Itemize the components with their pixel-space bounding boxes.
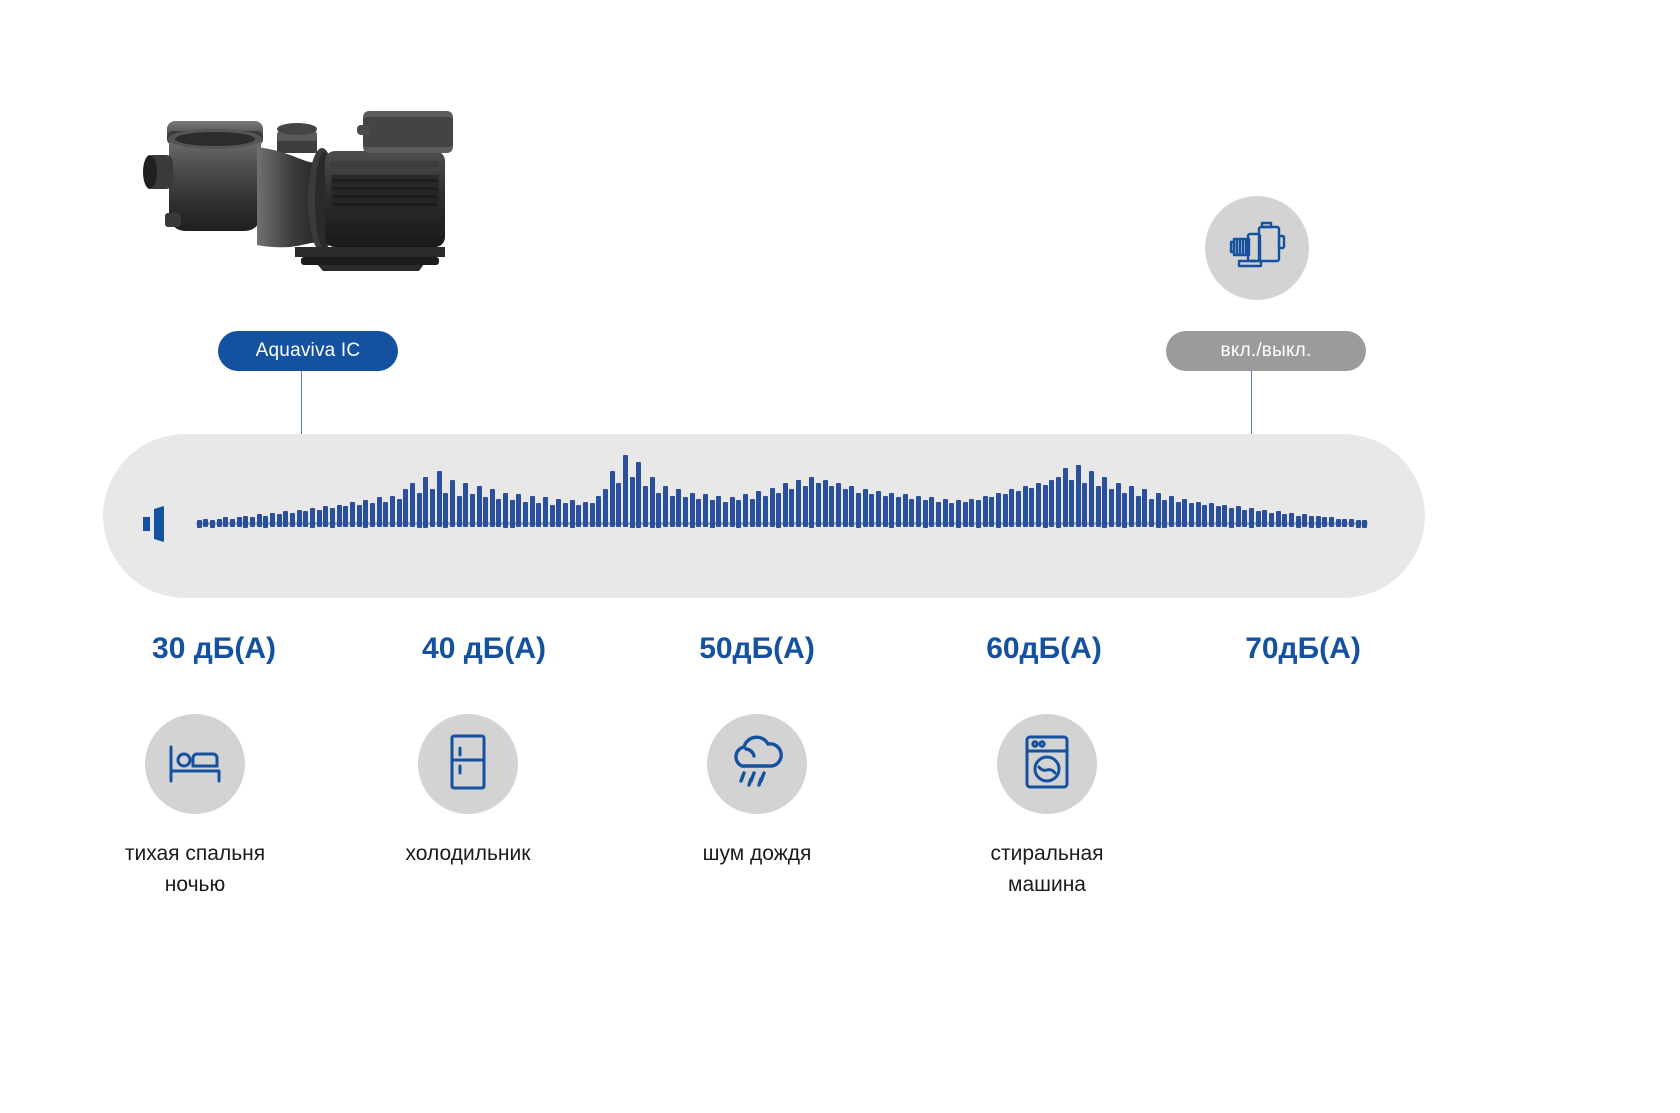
waveform-bar: [437, 471, 442, 528]
waveform-bar: [816, 483, 821, 527]
waveform-bar: [1329, 517, 1334, 527]
waveform-bar: [1009, 489, 1014, 527]
noise-source-list: тихая спальня ночьюхолодильникшум дождяс…: [0, 714, 1680, 914]
waveform-bar: [410, 483, 415, 527]
waveform-bar: [736, 500, 741, 527]
waveform-bar: [1162, 500, 1167, 527]
waveform-bar: [690, 493, 695, 528]
waveform-bar: [1242, 510, 1247, 528]
waveform-bar: [696, 499, 701, 528]
waveform-bar: [730, 497, 735, 527]
waveform-bar: [1269, 513, 1274, 528]
waveform-bar: [1096, 486, 1101, 527]
waveform-bar: [1076, 465, 1081, 528]
waveform-bar: [1282, 514, 1287, 527]
waveform-bar: [1342, 519, 1347, 528]
waveform-bar: [1229, 508, 1234, 528]
waveform-bar: [783, 483, 788, 527]
waveform-bar: [590, 503, 595, 527]
waveform-bar: [903, 494, 908, 527]
waveform-bar: [1202, 505, 1207, 528]
washing-machine-icon: [1023, 734, 1071, 795]
waveform-bar: [1216, 506, 1221, 527]
waveform-bar: [1056, 477, 1061, 528]
washing-machine-icon-circle: [997, 714, 1097, 814]
waveform-bar: [1276, 511, 1281, 527]
waveform-bar: [1362, 520, 1367, 528]
noise-source-item: шум дождя: [637, 714, 877, 869]
waveform-bar: [510, 500, 515, 527]
waveform-bar: [763, 496, 768, 528]
waveform-bar: [223, 517, 228, 527]
waveform-bar: [417, 493, 422, 528]
waveform-bar: [976, 500, 981, 527]
noise-source-caption: стиральная машина: [927, 838, 1167, 900]
waveform-bar: [943, 499, 948, 528]
waveform-bar: [1196, 502, 1201, 528]
waveform-bar: [596, 496, 601, 528]
waveform-bar: [1256, 511, 1261, 527]
waveform-bar: [843, 489, 848, 527]
waveform-bar: [623, 455, 628, 527]
waveform-bar: [1116, 483, 1121, 527]
pump-product-photo: [125, 95, 525, 285]
db-scale-label: 70дБ(A): [1245, 632, 1361, 666]
waveform-bar: [743, 494, 748, 527]
waveform-bar: [1169, 496, 1174, 528]
waveform-bar: [337, 505, 342, 528]
waveform-bar: [883, 496, 888, 528]
waveform-bar: [836, 483, 841, 527]
infographic-canvas: Aquaviva IC вкл./выкл. 30 дБ(A)40 дБ(A)5…: [0, 0, 1680, 1113]
speaker-volume-icon: [140, 505, 180, 543]
waveform-bar: [423, 477, 428, 528]
waveform-bar: [1149, 499, 1154, 528]
waveform-bar: [277, 514, 282, 527]
waveform-bar: [516, 494, 521, 527]
waveform-bar: [450, 480, 455, 527]
waveform-bar: [210, 520, 215, 528]
waveform-bar: [463, 483, 468, 527]
waveform-bar: [670, 496, 675, 528]
waveform-bar: [330, 508, 335, 528]
waveform-bar: [863, 489, 868, 527]
waveform-bar: [576, 505, 581, 528]
waveform-plot: [196, 434, 1368, 598]
db-scale-label: 30 дБ(A): [152, 632, 276, 666]
waveform-bar: [243, 516, 248, 528]
noise-source-caption: тихая спальня ночью: [75, 838, 315, 900]
waveform-bar: [317, 510, 322, 528]
waveform-bar: [723, 502, 728, 528]
waveform-bar: [1176, 502, 1181, 528]
waveform-bar: [217, 519, 222, 528]
waveform-bar: [1049, 480, 1054, 527]
waveform-bar: [343, 506, 348, 527]
waveform-bar: [1336, 519, 1341, 528]
waveform-bar: [370, 503, 375, 527]
waveform-bar: [663, 486, 668, 527]
waveform-bar: [1003, 494, 1008, 527]
waveform-bar: [1236, 506, 1241, 527]
waveform-bar: [936, 502, 941, 528]
refrigerator-icon-circle: [418, 714, 518, 814]
waveform-bar: [523, 502, 528, 528]
waveform-bar: [750, 499, 755, 528]
waveform-bar: [1302, 514, 1307, 527]
waveform-bar: [1016, 491, 1021, 528]
db-scale-label: 50дБ(A): [699, 632, 815, 666]
noise-source-item: холодильник: [348, 714, 588, 869]
waveform-bar: [823, 480, 828, 527]
waveform-bar: [969, 499, 974, 528]
waveform-bar: [616, 483, 621, 527]
waveform-bar: [270, 513, 275, 528]
refrigerator-icon: [448, 733, 488, 796]
waveform-bar: [630, 477, 635, 528]
waveform-bar: [656, 493, 661, 528]
waveform-bar: [896, 497, 901, 527]
decibel-scale: 30 дБ(A)40 дБ(A)50дБ(A)60дБ(A)70дБ(A): [0, 632, 1680, 678]
waveform-bars: [196, 434, 1368, 598]
waveform-bar: [716, 496, 721, 528]
waveform-bar: [303, 511, 308, 527]
waveform-bar: [1189, 503, 1194, 527]
waveform-bar: [477, 486, 482, 527]
waveform-bar: [849, 486, 854, 527]
waveform-bar: [357, 505, 362, 528]
waveform-bar: [1089, 471, 1094, 528]
waveform-bar: [257, 514, 262, 527]
waveform-bar: [923, 500, 928, 527]
waveform-bar: [1129, 486, 1134, 527]
waveform-bar: [536, 503, 541, 527]
waveform-bar: [483, 497, 488, 527]
waveform-bar: [430, 489, 435, 527]
waveform-bar: [889, 493, 894, 528]
waveform-bar: [956, 500, 961, 527]
waveform-bar: [1262, 510, 1267, 528]
waveform-bar: [676, 489, 681, 527]
waveform-bar: [989, 497, 994, 527]
waveform-bar: [543, 497, 548, 527]
waveform-bar: [610, 471, 615, 528]
waveform-bar: [496, 499, 501, 528]
waveform-bar: [363, 500, 368, 527]
waveform-bar: [929, 497, 934, 527]
waveform-bar: [503, 493, 508, 528]
waveform-bar: [443, 493, 448, 528]
bed-icon: [167, 739, 223, 790]
waveform-bar: [1043, 485, 1048, 528]
waveform-bar: [237, 517, 242, 527]
waveform-bar: [1289, 513, 1294, 528]
waveform-bar: [1249, 508, 1254, 528]
callout-onoff[interactable]: вкл./выкл.: [1166, 331, 1366, 371]
waveform-bar: [203, 519, 208, 528]
waveform-bar: [770, 488, 775, 528]
electric-motor-icon: [1226, 221, 1288, 276]
waveform-bar: [650, 477, 655, 528]
waveform-bar: [949, 503, 954, 527]
callout-aquaviva[interactable]: Aquaviva IC: [218, 331, 398, 371]
waveform-bar: [683, 497, 688, 527]
waveform-bar: [856, 493, 861, 528]
waveform-bar: [1069, 480, 1074, 527]
waveform-bar: [1136, 496, 1141, 528]
waveform-bar: [703, 494, 708, 527]
waveform-bar: [1349, 519, 1354, 528]
waveform-bar: [803, 486, 808, 527]
electric-motor-icon-circle: [1205, 196, 1309, 300]
waveform-bar: [197, 520, 202, 528]
waveform-bar: [283, 511, 288, 527]
noise-source-item: стиральная машина: [927, 714, 1167, 900]
waveform-bar: [996, 493, 1001, 528]
waveform-bar: [250, 517, 255, 527]
waveform-bar: [550, 505, 555, 528]
waveform-bar: [230, 519, 235, 528]
waveform-bar: [1109, 489, 1114, 527]
waveform-bar: [909, 499, 914, 528]
waveform-bar: [710, 500, 715, 527]
waveform-bar: [310, 508, 315, 528]
waveform-bar: [1142, 489, 1147, 527]
noise-source-caption: шум дождя: [637, 838, 877, 869]
waveform-bar: [1122, 493, 1127, 528]
waveform-bar: [470, 494, 475, 527]
waveform-bar: [570, 500, 575, 527]
waveform-bar: [916, 496, 921, 528]
waveform-bar: [563, 503, 568, 527]
waveform-bar: [796, 480, 801, 527]
waveform-bar: [876, 491, 881, 528]
waveform-bar: [1029, 488, 1034, 528]
waveform-bar: [603, 489, 608, 527]
waveform-bar: [1102, 477, 1107, 528]
waveform-bar: [1316, 516, 1321, 528]
waveform-bar: [776, 493, 781, 528]
waveform-bar: [983, 496, 988, 528]
waveform-bar: [756, 491, 761, 528]
waveform-bar: [869, 494, 874, 527]
waveform-bar: [789, 489, 794, 527]
waveform-bar: [1222, 505, 1227, 528]
waveform-bar: [1063, 468, 1068, 528]
waveform-bar: [350, 502, 355, 528]
waveform-bar: [263, 516, 268, 528]
waveform-bar: [809, 477, 814, 528]
waveform-bar: [1023, 486, 1028, 527]
waveform-bar: [297, 510, 302, 528]
waveform-bar: [1209, 503, 1214, 527]
waveform-bar: [390, 496, 395, 528]
waveform-bar: [829, 486, 834, 527]
waveform-bar: [1036, 483, 1041, 527]
waveform-bar: [583, 502, 588, 528]
db-scale-label: 60дБ(A): [986, 632, 1102, 666]
noise-source-caption: холодильник: [348, 838, 588, 869]
waveform-bar: [383, 502, 388, 528]
waveform-bar: [556, 499, 561, 528]
waveform-bar: [643, 486, 648, 527]
waveform-bar: [290, 513, 295, 528]
waveform-bar: [1082, 483, 1087, 527]
bed-icon-circle: [145, 714, 245, 814]
waveform-bar: [636, 462, 641, 528]
waveform-bar: [1182, 499, 1187, 528]
rain-cloud-icon: [726, 735, 788, 794]
waveform-bar: [397, 499, 402, 528]
waveform-bar: [530, 496, 535, 528]
waveform-bar: [1156, 493, 1161, 528]
waveform-bar: [1322, 517, 1327, 527]
waveform-bar: [1309, 516, 1314, 528]
waveform-bar: [963, 502, 968, 528]
waveform-bar: [323, 506, 328, 527]
rain-cloud-icon-circle: [707, 714, 807, 814]
db-scale-label: 40 дБ(A): [422, 632, 546, 666]
waveform-bar: [457, 496, 462, 528]
waveform-bar: [1296, 516, 1301, 528]
waveform-bar: [1356, 520, 1361, 528]
waveform-bar: [403, 489, 408, 527]
waveform-bar: [490, 489, 495, 527]
waveform-bar: [377, 497, 382, 527]
noise-source-item: тихая спальня ночью: [75, 714, 315, 900]
